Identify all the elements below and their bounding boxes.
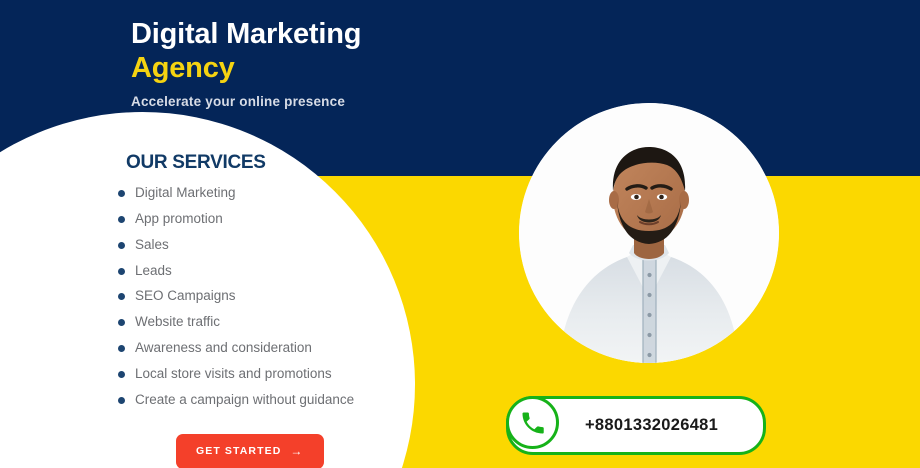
services-heading: OUR SERVICES — [126, 152, 422, 174]
list-item: Sales — [112, 238, 422, 253]
bullet-icon — [118, 216, 125, 223]
marketing-banner: Digital Marketing Agency Accelerate your… — [0, 0, 920, 468]
service-label: Awareness and consideration — [135, 340, 312, 355]
list-item: Website traffic — [112, 315, 422, 330]
bullet-icon — [118, 242, 125, 249]
phone-handset-glyph — [519, 409, 547, 437]
list-item: Leads — [112, 264, 422, 279]
list-item: SEO Campaigns — [112, 289, 422, 304]
list-item: Digital Marketing — [112, 186, 422, 201]
service-label: App promotion — [135, 211, 223, 226]
headline-subtitle: Accelerate your online presence — [131, 94, 461, 109]
service-label: Create a campaign without guidance — [135, 392, 354, 407]
list-item: Awareness and consideration — [112, 341, 422, 356]
phone-contact-badge[interactable]: +8801332026481 — [506, 396, 766, 455]
bullet-icon — [118, 319, 125, 326]
phone-number-text: +8801332026481 — [585, 416, 718, 435]
bullet-icon — [118, 397, 125, 404]
service-label: Website traffic — [135, 314, 220, 329]
headline-block: Digital Marketing Agency Accelerate your… — [131, 18, 461, 109]
get-started-button[interactable]: GET STARTED → — [176, 434, 324, 468]
services-section: OUR SERVICES Digital Marketing App promo… — [112, 152, 422, 419]
bullet-icon — [118, 371, 125, 378]
get-started-label: GET STARTED — [196, 445, 281, 457]
service-label: Local store visits and promotions — [135, 366, 332, 381]
phone-icon — [506, 396, 559, 449]
list-item: Create a campaign without guidance — [112, 393, 422, 408]
service-label: Sales — [135, 237, 169, 252]
list-item: App promotion — [112, 212, 422, 227]
service-label: SEO Campaigns — [135, 288, 236, 303]
bullet-icon — [118, 190, 125, 197]
services-list: Digital Marketing App promotion Sales Le… — [112, 186, 422, 408]
list-item: Local store visits and promotions — [112, 367, 422, 382]
service-label: Digital Marketing — [135, 185, 236, 200]
headline-line-1: Digital Marketing — [131, 18, 461, 52]
bullet-icon — [118, 345, 125, 352]
bullet-icon — [118, 268, 125, 275]
portrait-avatar — [519, 103, 779, 363]
service-label: Leads — [135, 263, 172, 278]
portrait-illustration — [519, 103, 779, 363]
headline-line-2: Agency — [131, 52, 461, 86]
bullet-icon — [118, 293, 125, 300]
arrow-right-icon: → — [290, 445, 303, 457]
